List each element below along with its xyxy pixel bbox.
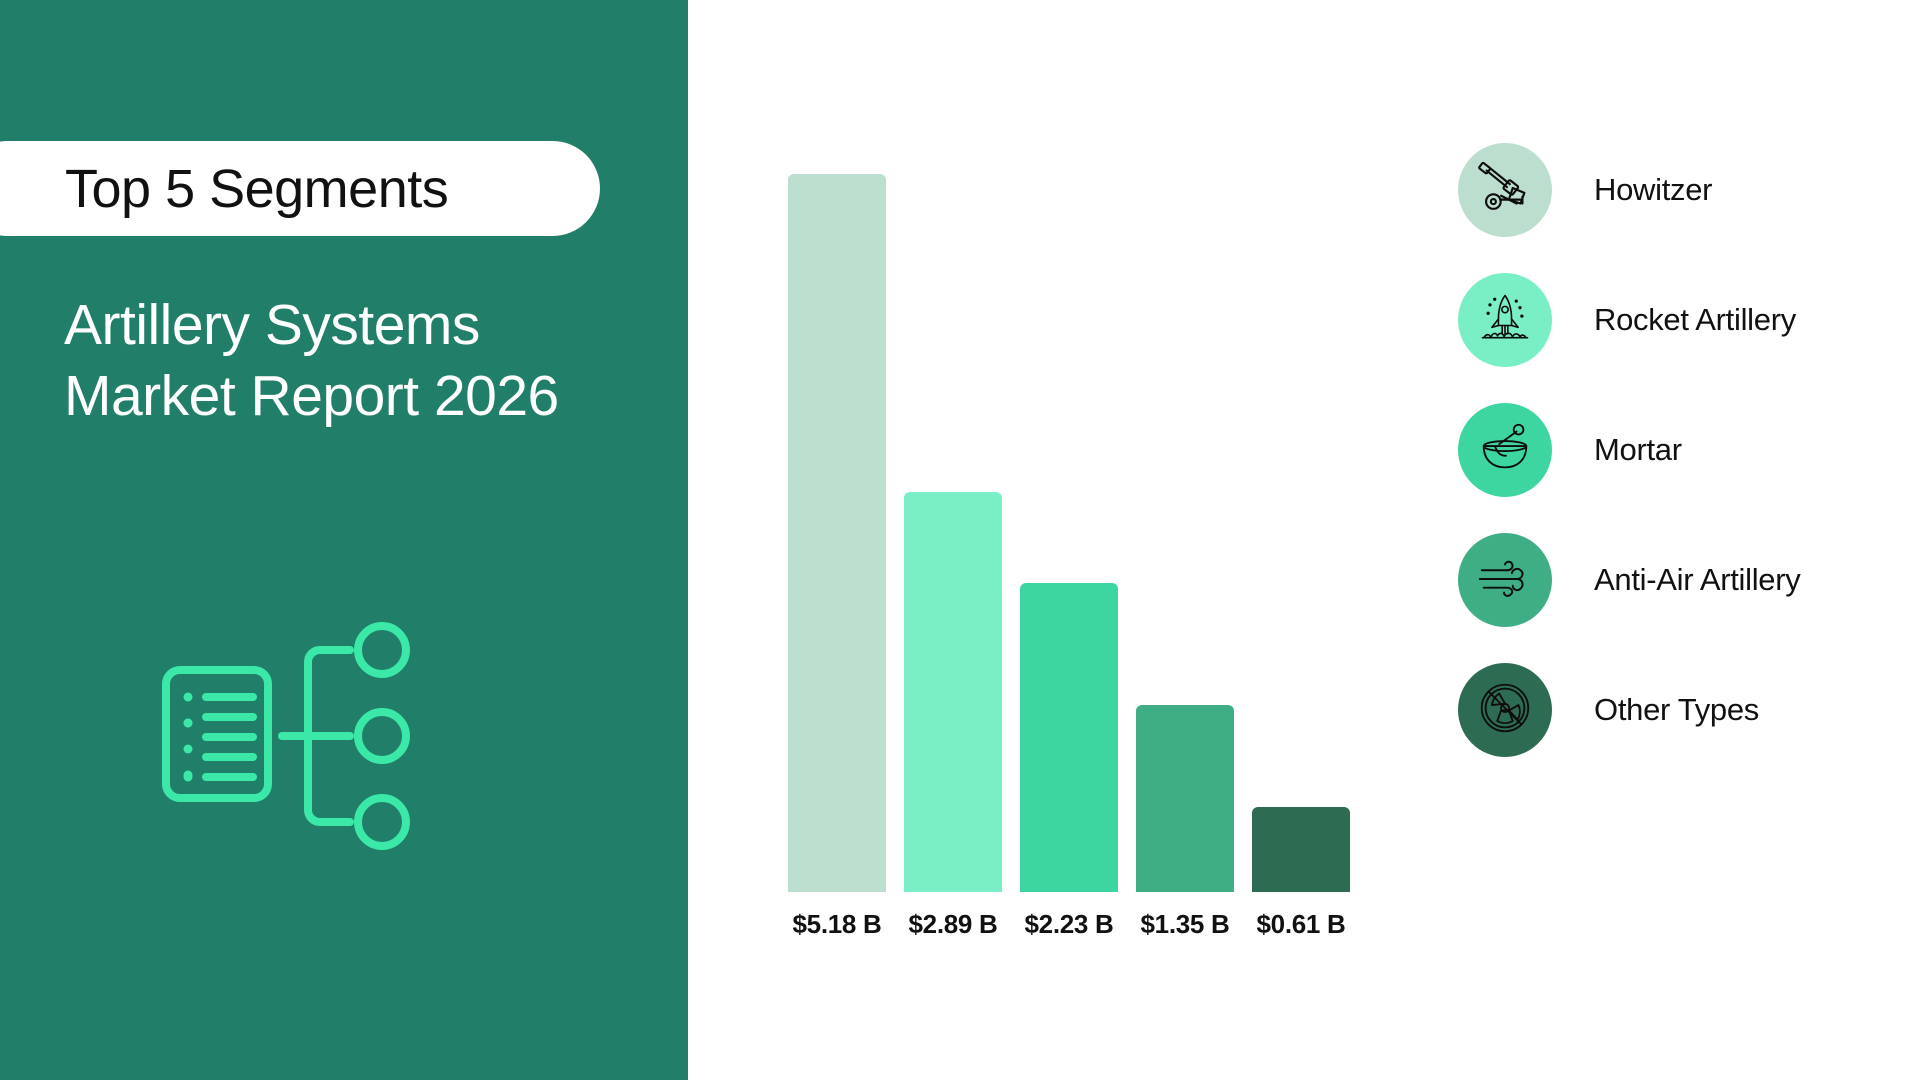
bar-column-1: $2.89 B xyxy=(904,150,1002,940)
page-title-line-2: Market Report 2026 xyxy=(64,361,644,432)
bar-value-label-3: $1.35 B xyxy=(1141,909,1230,940)
legend-item-other-types[interactable]: Other Types xyxy=(1458,645,1888,775)
bar-0 xyxy=(788,174,886,892)
page-title-line-1: Artillery Systems xyxy=(64,290,644,361)
legend-swatch-rocket-artillery xyxy=(1458,273,1552,367)
wind-air-icon xyxy=(1474,547,1536,614)
legend-label-mortar: Mortar xyxy=(1594,432,1682,468)
bar-column-2: $2.23 B xyxy=(1020,150,1118,940)
segmentation-diagram-icon xyxy=(160,608,430,863)
badge-pill: Top 5 Segments xyxy=(0,141,600,236)
rocket-launch-icon xyxy=(1475,288,1535,353)
bar-chart: $5.18 B $2.89 B $2.23 B $1.35 B $0.61 B xyxy=(788,150,1368,940)
bar-value-label-2: $2.23 B xyxy=(1025,909,1114,940)
mortar-pestle-icon xyxy=(1474,417,1536,484)
chart-area: $5.18 B $2.89 B $2.23 B $1.35 B $0.61 B xyxy=(688,0,1920,1080)
legend-swatch-howitzer xyxy=(1458,143,1552,237)
legend-item-rocket-artillery[interactable]: Rocket Artillery xyxy=(1458,255,1888,385)
bar-column-3: $1.35 B xyxy=(1136,150,1234,940)
legend-item-mortar[interactable]: Mortar xyxy=(1458,385,1888,515)
howitzer-cannon-icon xyxy=(1474,157,1536,224)
bar-column-4: $0.61 B xyxy=(1252,150,1350,940)
bar-4 xyxy=(1252,807,1350,892)
legend-swatch-other-types xyxy=(1458,663,1552,757)
badge-label: Top 5 Segments xyxy=(65,158,448,220)
legend-label-howitzer: Howitzer xyxy=(1594,172,1712,208)
bar-value-label-1: $2.89 B xyxy=(909,909,998,940)
chart-legend: Howitzer xyxy=(1458,125,1888,775)
legend-item-anti-air-artillery[interactable]: Anti-Air Artillery xyxy=(1458,515,1888,645)
no-radiation-icon xyxy=(1474,677,1536,744)
legend-label-other-types: Other Types xyxy=(1594,692,1759,728)
legend-label-rocket-artillery: Rocket Artillery xyxy=(1594,302,1796,338)
bar-2 xyxy=(1020,583,1118,892)
legend-item-howitzer[interactable]: Howitzer xyxy=(1458,125,1888,255)
page-title: Artillery Systems Market Report 2026 xyxy=(64,290,644,431)
legend-swatch-anti-air-artillery xyxy=(1458,533,1552,627)
bar-1 xyxy=(904,492,1002,892)
bar-column-0: $5.18 B xyxy=(788,150,886,940)
legend-label-anti-air-artillery: Anti-Air Artillery xyxy=(1594,562,1800,598)
legend-swatch-mortar xyxy=(1458,403,1552,497)
left-panel: Top 5 Segments Artillery Systems Market … xyxy=(0,0,688,1080)
bar-value-label-4: $0.61 B xyxy=(1257,909,1346,940)
bar-3 xyxy=(1136,705,1234,892)
bar-value-label-0: $5.18 B xyxy=(793,909,882,940)
